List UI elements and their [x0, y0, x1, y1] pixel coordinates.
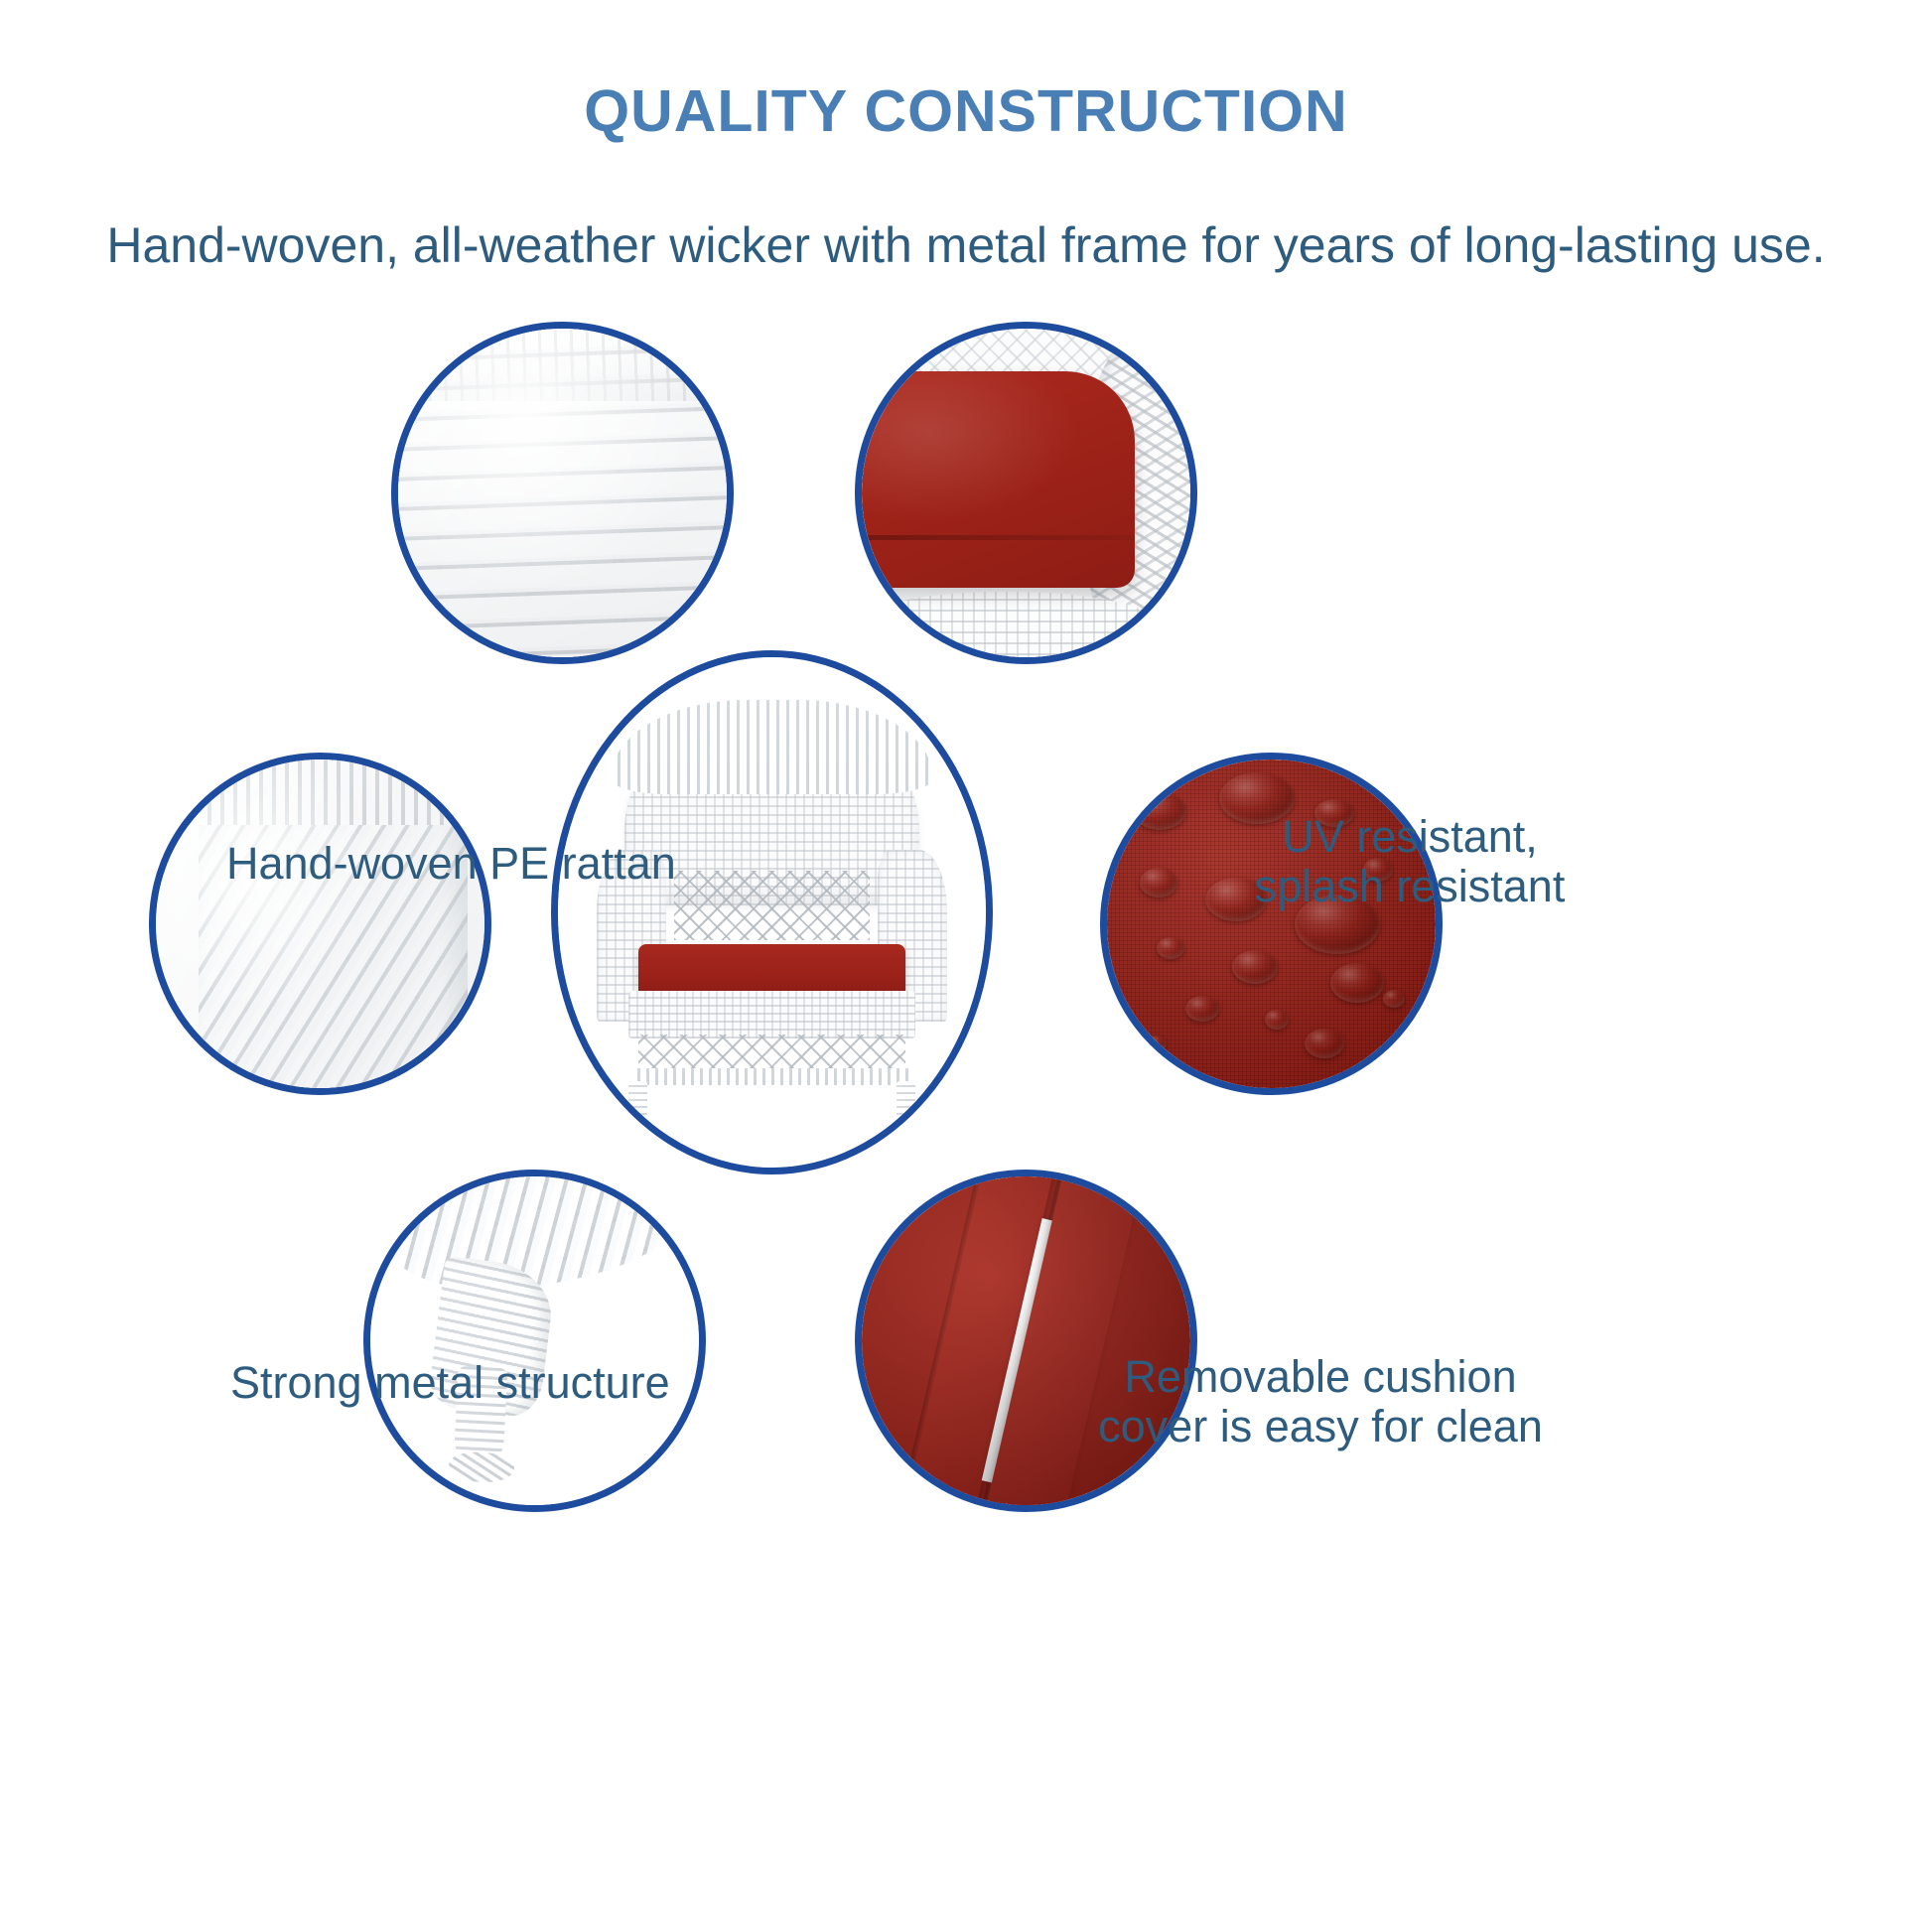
wicker-highlight-overlay: [398, 329, 727, 657]
label-uv-splash-resistant: UV resistant, splash resistant: [1255, 812, 1566, 912]
full-chair-image: [558, 657, 986, 1168]
callout-circle-full-chair: [551, 650, 993, 1174]
water-droplet-icon: [1157, 937, 1184, 959]
callout-circle-armrest-frame: [149, 753, 491, 1095]
armrest-shading-overlay: [156, 759, 484, 1088]
cushion-zipper-image: [862, 1176, 1190, 1505]
water-droplet-icon: [1330, 963, 1384, 1003]
callout-circle-wicker-leg: [363, 1170, 706, 1512]
chair-back-rim: [611, 700, 933, 794]
callout-circle-cushion-zipper: [855, 1170, 1197, 1512]
water-droplets-image: [1107, 759, 1436, 1088]
water-droplet-icon: [1265, 1010, 1289, 1030]
label-hand-woven-pe-rattan: Hand-woven PE rattan: [226, 839, 676, 889]
chair-back-lattice: [674, 871, 871, 939]
callout-circle-rattan-weave: [391, 322, 734, 664]
page-subtitle: Hand-woven, all-weather wicker with meta…: [0, 216, 1932, 274]
chair-bottom-rail: [631, 1068, 912, 1085]
label-removable-cushion-cover: Removable cushion cover is easy for clea…: [1098, 1352, 1543, 1452]
rattan-weave-image: [398, 329, 727, 657]
label-strong-metal-structure: Strong metal structure: [230, 1358, 670, 1408]
armrest-frame-image: [156, 759, 484, 1088]
water-droplet-icon: [1147, 1035, 1167, 1051]
chair-skirt-lattice: [638, 1035, 905, 1073]
callout-circle-seat-cushion: [855, 322, 1197, 664]
water-droplet-icon: [1305, 1029, 1344, 1058]
cushion-highlight: [862, 371, 1135, 588]
chair-seat-base: [628, 991, 916, 1037]
page-title: QUALITY CONSTRUCTION: [0, 77, 1932, 145]
water-droplet-icon: [1383, 990, 1405, 1008]
water-droplet-icon: [1232, 950, 1278, 984]
wicker-armchair: [597, 708, 947, 1137]
cushion-shading-overlay: [862, 1176, 1190, 1505]
seat-cushion-image: [862, 329, 1190, 657]
callout-circle-water-droplets: [1100, 753, 1443, 1095]
wicker-leg-image: [370, 1176, 699, 1505]
